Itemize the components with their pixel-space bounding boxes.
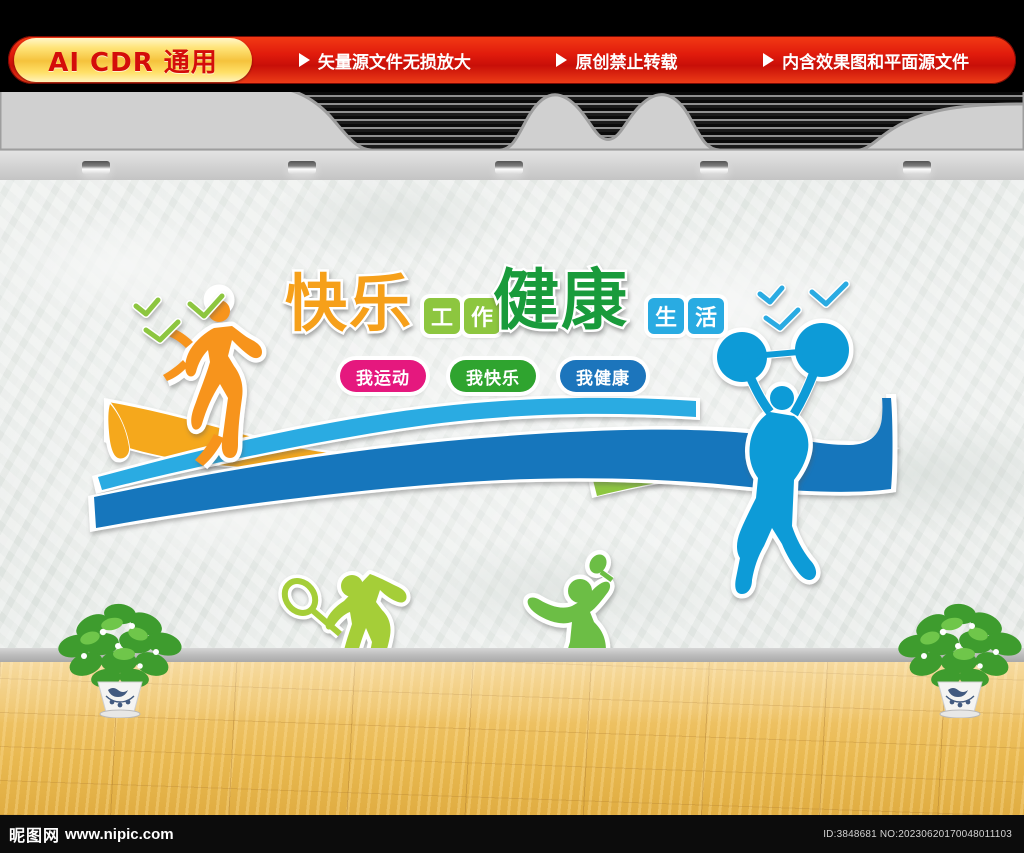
wall-artwork: 快乐 工 作 健康 生 活 我运动 我快乐 我健康 <box>0 180 1024 655</box>
plant-pot <box>938 682 982 712</box>
artwork-graphics <box>0 180 1024 655</box>
promo-feature-list: 矢量源文件无损放大 原创禁止转载 内含效果图和平面源文件 <box>256 36 1012 84</box>
potted-plant-right <box>880 588 1024 718</box>
site-logo-url: www.nipic.com <box>65 826 174 843</box>
promo-feature-item: 内含效果图和平面源文件 <box>763 48 969 73</box>
watermark-footer: 昵图网 www.nipic.com ID:3848681 NO:20230620… <box>0 815 1024 853</box>
triangle-right-icon <box>299 53 310 67</box>
promo-feature-label: 原创禁止转载 <box>575 48 677 73</box>
format-badge: AI CDR 通用 <box>14 38 252 82</box>
promo-feature-item: 原创禁止转载 <box>556 48 677 73</box>
promo-feature-label: 矢量源文件无损放大 <box>318 48 471 73</box>
promo-feature-label: 内含效果图和平面源文件 <box>782 48 969 73</box>
ceiling-soffit <box>0 92 1024 154</box>
ceiling-downlight <box>495 161 523 174</box>
site-logo: 昵图网 www.nipic.com <box>9 822 174 846</box>
promo-feature-item: 矢量源文件无损放大 <box>299 48 471 73</box>
plant-pot <box>98 682 142 712</box>
site-logo-cn: 昵图网 <box>9 822 60 846</box>
screenshot-root: AI CDR 通用 矢量源文件无损放大 原创禁止转载 内含效果图和平面源文件 <box>0 0 1024 853</box>
asset-id-label: ID:3848681 NO:20230620170048011103 <box>823 829 1012 840</box>
pot-saucer <box>940 710 980 718</box>
ceiling-downlight <box>903 161 931 174</box>
format-badge-label: AI CDR 通用 <box>48 42 218 79</box>
ceiling-downlight <box>288 161 316 174</box>
triangle-right-icon <box>763 53 774 67</box>
ceiling-downlight <box>82 161 110 174</box>
ceiling-downlight <box>700 161 728 174</box>
potted-plant-left <box>40 588 200 718</box>
pot-saucer <box>100 710 140 718</box>
triangle-right-icon <box>556 53 567 67</box>
promo-banner: AI CDR 通用 矢量源文件无损放大 原创禁止转载 内含效果图和平面源文件 <box>0 0 1024 92</box>
